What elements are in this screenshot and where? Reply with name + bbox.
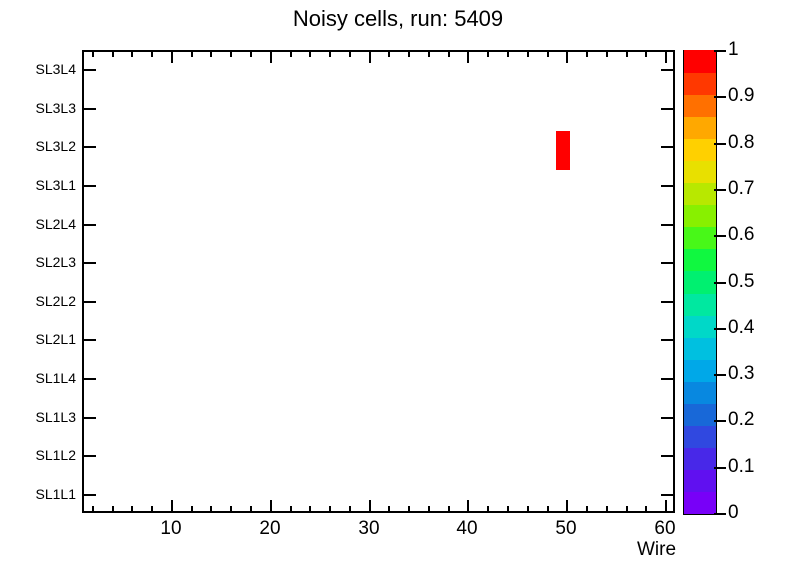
- y-axis-tick-right: [661, 378, 675, 380]
- x-axis-tick: [171, 500, 173, 513]
- palette-band: [684, 425, 716, 448]
- y-axis-label-sl2l2: SL2L2: [36, 293, 76, 309]
- y-axis-label-sl2l3: SL2L3: [36, 254, 76, 270]
- z-axis-label-0_3: 0.3: [728, 363, 754, 385]
- x-axis-minor-tick: [626, 506, 628, 513]
- z-axis-tick: [714, 96, 726, 98]
- y-axis-tick-right: [661, 108, 675, 110]
- x-axis-label-60: 60: [654, 518, 675, 540]
- x-axis-minor-tick: [487, 506, 489, 513]
- x-axis-tick-top: [566, 50, 568, 63]
- y-axis-tick-right: [661, 417, 675, 419]
- x-axis-minor-tick-top: [527, 50, 529, 57]
- x-axis-minor-tick-top: [626, 50, 628, 57]
- z-axis-tick: [714, 50, 726, 52]
- x-axis-tick-top: [467, 50, 469, 63]
- palette-band: [684, 227, 716, 250]
- z-axis-tick: [714, 374, 726, 376]
- x-axis-minor-tick-top: [507, 50, 509, 57]
- y-axis-label-sl2l4: SL2L4: [36, 216, 76, 232]
- palette-band: [684, 359, 716, 382]
- y-axis-tick: [82, 224, 96, 226]
- y-axis-label-sl3l3: SL3L3: [36, 100, 76, 116]
- y-axis-label-sl2l1: SL2L1: [36, 331, 76, 347]
- y-axis-label-sl3l2: SL3L2: [36, 138, 76, 154]
- palette-band: [684, 249, 716, 272]
- x-axis-tick: [467, 500, 469, 513]
- x-axis-label-20: 20: [259, 518, 280, 540]
- z-axis-label-0_1: 0.1: [728, 456, 754, 478]
- y-axis-label-sl3l4: SL3L4: [36, 61, 76, 77]
- x-axis-tick-top: [171, 50, 173, 63]
- page-title: Noisy cells, run: 5409: [0, 6, 796, 32]
- x-axis-tick-top: [369, 50, 371, 63]
- y-axis-tick-right: [661, 455, 675, 457]
- x-axis-minor-tick: [606, 506, 608, 513]
- x-axis-minor-tick-top: [388, 50, 390, 57]
- x-axis-minor-tick: [547, 506, 549, 513]
- palette-band: [684, 183, 716, 206]
- y-axis-tick-right: [661, 185, 675, 187]
- palette-band: [684, 117, 716, 140]
- y-axis-tick-right: [661, 339, 675, 341]
- x-axis-minor-tick-top: [329, 50, 331, 57]
- palette-band: [684, 337, 716, 360]
- x-axis-label-30: 30: [358, 518, 379, 540]
- x-axis-minor-tick: [329, 506, 331, 513]
- z-axis-label-1: 1: [728, 39, 739, 61]
- x-axis-minor-tick-top: [230, 50, 232, 57]
- palette-band: [684, 381, 716, 404]
- y-axis-label-sl1l1: SL1L1: [36, 486, 76, 502]
- palette-band: [684, 403, 716, 426]
- x-axis-minor-tick: [448, 506, 450, 513]
- x-axis-minor-tick: [250, 506, 252, 513]
- x-axis-tick: [566, 500, 568, 513]
- x-axis-minor-tick-top: [487, 50, 489, 57]
- y-axis-tick: [82, 417, 96, 419]
- x-axis-title: Wire: [637, 539, 676, 561]
- palette-band: [684, 139, 716, 162]
- x-axis-minor-tick: [112, 506, 114, 513]
- palette-band: [684, 447, 716, 470]
- x-axis-minor-tick: [527, 506, 529, 513]
- x-axis-tick-top: [665, 50, 667, 63]
- x-axis-minor-tick-top: [408, 50, 410, 57]
- x-axis-minor-tick-top: [131, 50, 133, 57]
- y-axis-label-sl1l2: SL1L2: [36, 447, 76, 463]
- y-axis-tick: [82, 339, 96, 341]
- y-axis-tick: [82, 146, 96, 148]
- x-axis-minor-tick: [309, 506, 311, 513]
- z-axis-tick: [714, 467, 726, 469]
- x-axis-minor-tick: [92, 506, 94, 513]
- z-axis-label-0_8: 0.8: [728, 132, 754, 154]
- x-axis-minor-tick-top: [428, 50, 430, 57]
- x-axis-tick: [270, 500, 272, 513]
- y-axis-tick-right: [661, 146, 675, 148]
- x-axis-minor-tick-top: [290, 50, 292, 57]
- palette-band: [684, 95, 716, 118]
- root-canvas: Noisy cells, run: 5409 SL1L1SL1L2SL1L3SL…: [0, 0, 796, 572]
- palette-band: [684, 293, 716, 316]
- x-axis-minor-tick: [349, 506, 351, 513]
- x-axis-minor-tick-top: [606, 50, 608, 57]
- y-axis-tick-right: [661, 224, 675, 226]
- y-axis-tick: [82, 378, 96, 380]
- x-axis-minor-tick-top: [448, 50, 450, 57]
- x-axis-minor-tick-top: [645, 50, 647, 57]
- palette-band: [684, 205, 716, 228]
- x-axis-minor-tick-top: [151, 50, 153, 57]
- x-axis-minor-tick-top: [309, 50, 311, 57]
- y-axis-tick-right: [661, 301, 675, 303]
- palette-band: [684, 469, 716, 492]
- y-axis-tick: [82, 262, 96, 264]
- z-axis-tick: [714, 513, 726, 515]
- y-axis-tick-right: [661, 69, 675, 71]
- z-axis-label-0_7: 0.7: [728, 178, 754, 200]
- x-axis-tick-top: [270, 50, 272, 63]
- x-axis-minor-tick: [428, 506, 430, 513]
- x-axis-label-10: 10: [160, 518, 181, 540]
- palette-band: [684, 50, 716, 73]
- palette-band: [684, 315, 716, 338]
- y-axis-label-sl1l4: SL1L4: [36, 370, 76, 386]
- y-axis-label-sl3l1: SL3L1: [36, 177, 76, 193]
- plot-frame: [82, 50, 675, 513]
- x-axis-label-40: 40: [456, 518, 477, 540]
- x-axis-minor-tick-top: [210, 50, 212, 57]
- palette-band: [684, 491, 716, 514]
- y-axis-tick: [82, 494, 96, 496]
- z-axis-tick: [714, 189, 726, 191]
- z-axis-label-0_4: 0.4: [728, 317, 754, 339]
- x-axis-minor-tick: [131, 506, 133, 513]
- z-color-palette[interactable]: [683, 50, 717, 515]
- y-axis-tick-right: [661, 494, 675, 496]
- palette-band: [684, 161, 716, 184]
- z-axis-tick: [714, 420, 726, 422]
- x-axis-minor-tick-top: [92, 50, 94, 57]
- z-axis-label-0_6: 0.6: [728, 224, 754, 246]
- z-axis-tick: [714, 235, 726, 237]
- x-axis-minor-tick-top: [547, 50, 549, 57]
- x-axis-minor-tick: [290, 506, 292, 513]
- x-axis-tick: [369, 500, 371, 513]
- x-axis-minor-tick: [408, 506, 410, 513]
- z-axis-label-0_2: 0.2: [728, 409, 754, 431]
- y-axis-tick: [82, 185, 96, 187]
- x-axis-minor-tick: [586, 506, 588, 513]
- x-axis-minor-tick: [210, 506, 212, 513]
- noisy-cell-wire49-sl3l2[interactable]: [556, 131, 570, 170]
- y-axis-tick: [82, 455, 96, 457]
- y-axis-tick: [82, 301, 96, 303]
- x-axis-minor-tick-top: [586, 50, 588, 57]
- y-axis-tick-right: [661, 262, 675, 264]
- x-axis-minor-tick-top: [191, 50, 193, 57]
- z-axis-tick: [714, 143, 726, 145]
- x-axis-minor-tick: [230, 506, 232, 513]
- x-axis-minor-tick-top: [349, 50, 351, 57]
- y-axis-tick: [82, 69, 96, 71]
- palette-band: [684, 72, 716, 95]
- x-axis-label-50: 50: [555, 518, 576, 540]
- z-axis-label-0_9: 0.9: [728, 85, 754, 107]
- x-axis-minor-tick: [191, 506, 193, 513]
- x-axis-minor-tick: [388, 506, 390, 513]
- z-axis-tick: [714, 282, 726, 284]
- x-axis-minor-tick: [645, 506, 647, 513]
- palette-band: [684, 271, 716, 294]
- x-axis-minor-tick: [151, 506, 153, 513]
- z-axis-label-0: 0: [728, 502, 739, 524]
- z-axis-label-0_5: 0.5: [728, 271, 754, 293]
- x-axis-minor-tick-top: [112, 50, 114, 57]
- y-axis-tick: [82, 108, 96, 110]
- x-axis-minor-tick: [507, 506, 509, 513]
- y-axis-label-sl1l3: SL1L3: [36, 409, 76, 425]
- x-axis-tick: [665, 500, 667, 513]
- z-axis-tick: [714, 328, 726, 330]
- x-axis-minor-tick-top: [250, 50, 252, 57]
